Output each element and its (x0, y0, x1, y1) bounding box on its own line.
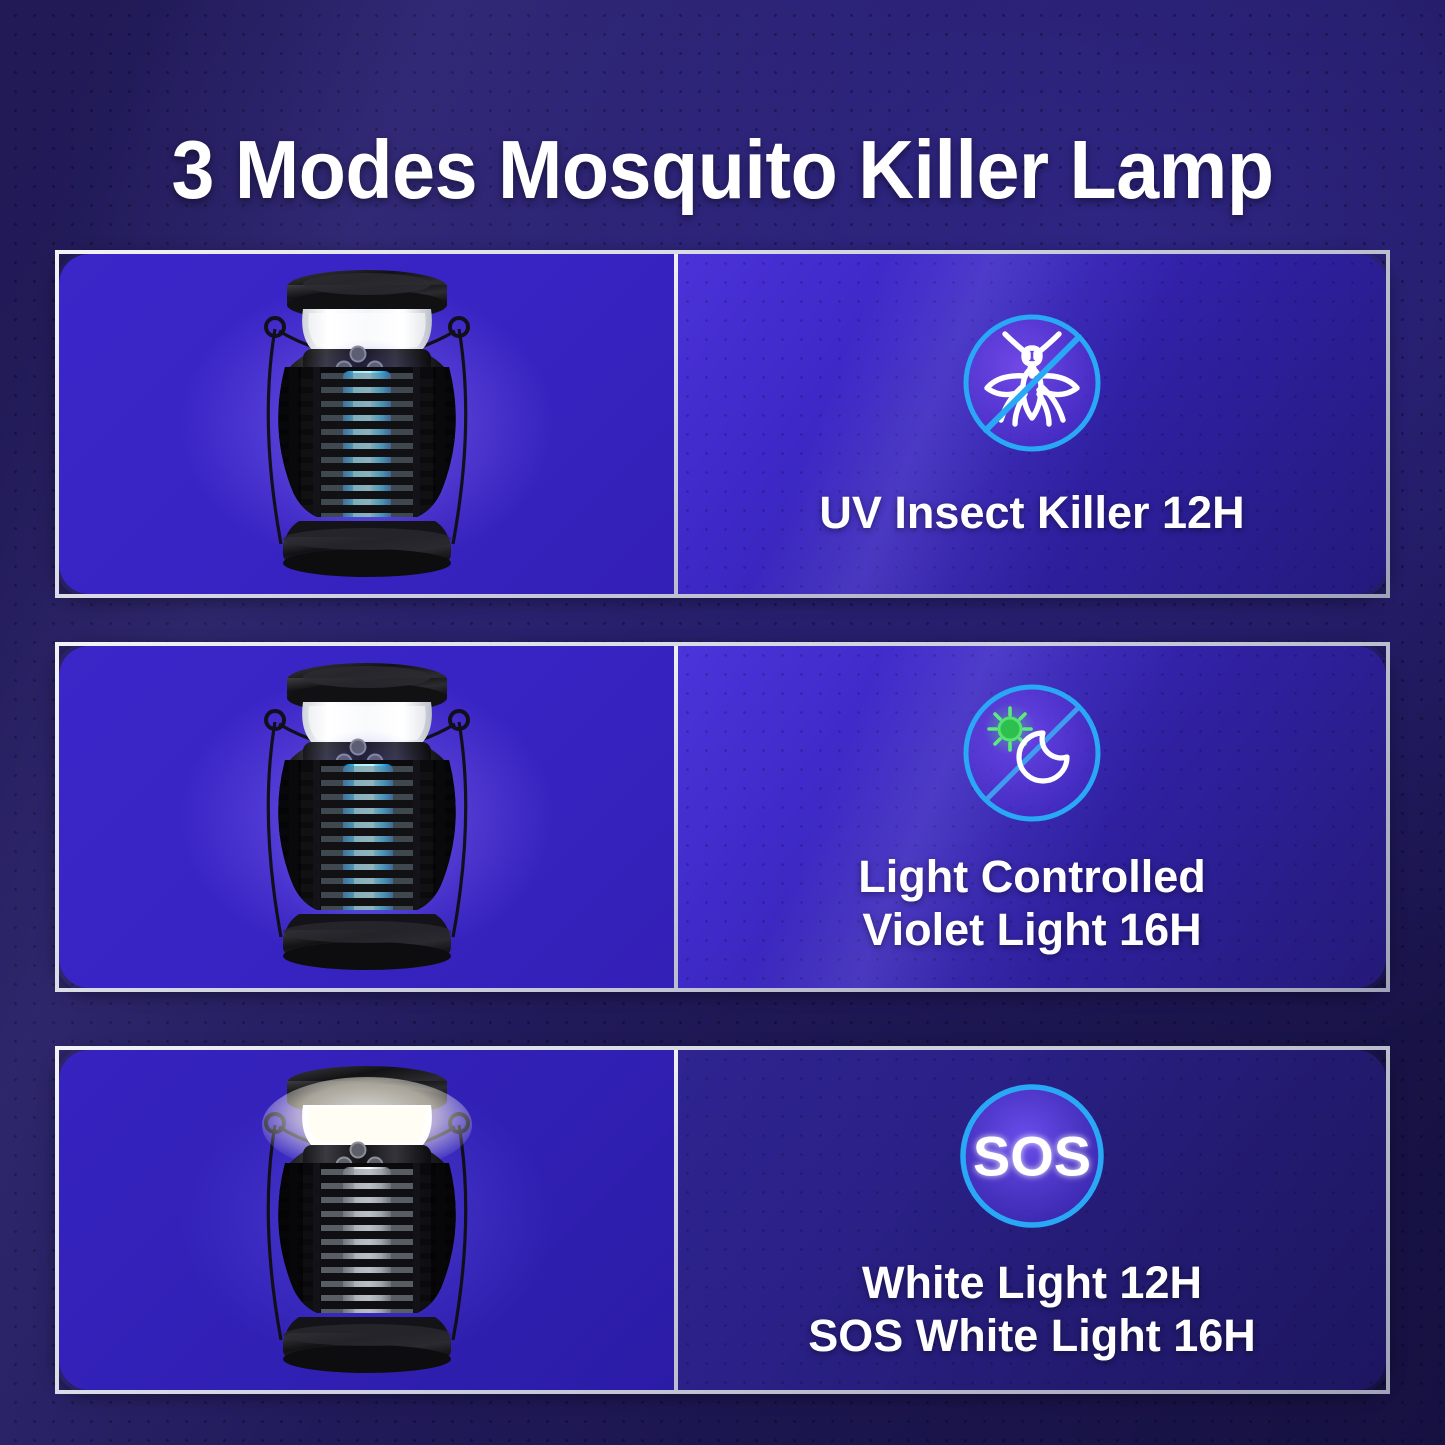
lamp-product-image-uv (217, 259, 517, 589)
feature-caption: UV Insect Killer 12H (819, 486, 1244, 539)
feature-caption: Light Controlled Violet Light 16H (858, 850, 1205, 956)
feature-panel-sos-white-light: SOS SOS White Light 12H SOS White Light … (55, 1046, 1390, 1394)
product-feature-graphic: 3 Modes Mosquito Killer Lamp (0, 0, 1445, 1445)
sos-icon-label: SOS (973, 1124, 1091, 1187)
sos-icon: SOS SOS (954, 1078, 1110, 1234)
feature-panel-light-controlled-violet: Light Controlled Violet Light 16H (55, 642, 1390, 992)
product-image-cell (59, 646, 678, 988)
caption-line: UV Insect Killer 12H (819, 486, 1244, 539)
product-image-cell (59, 254, 678, 594)
caption-line: Light Controlled (858, 850, 1205, 903)
caption-line: White Light 12H (808, 1256, 1256, 1309)
lamp-product-image-white (217, 1055, 517, 1385)
mosquito-prohibited-icon (957, 308, 1107, 458)
feature-info-cell: UV Insect Killer 12H (678, 254, 1386, 594)
feature-panel-uv-insect-killer: UV Insect Killer 12H (55, 250, 1390, 598)
lamp-product-image-violet (217, 652, 517, 982)
caption-line: Violet Light 16H (858, 903, 1205, 956)
feature-caption: White Light 12H SOS White Light 16H (808, 1256, 1256, 1362)
product-image-cell (59, 1050, 678, 1390)
caption-line: SOS White Light 16H (808, 1309, 1256, 1362)
sun-moon-day-night-icon (957, 678, 1107, 828)
page-title: 3 Modes Mosquito Killer Lamp (51, 128, 1395, 211)
feature-info-cell: SOS SOS White Light 12H SOS White Light … (678, 1050, 1386, 1390)
sun-icon (984, 703, 1036, 755)
feature-info-cell: Light Controlled Violet Light 16H (678, 646, 1386, 988)
